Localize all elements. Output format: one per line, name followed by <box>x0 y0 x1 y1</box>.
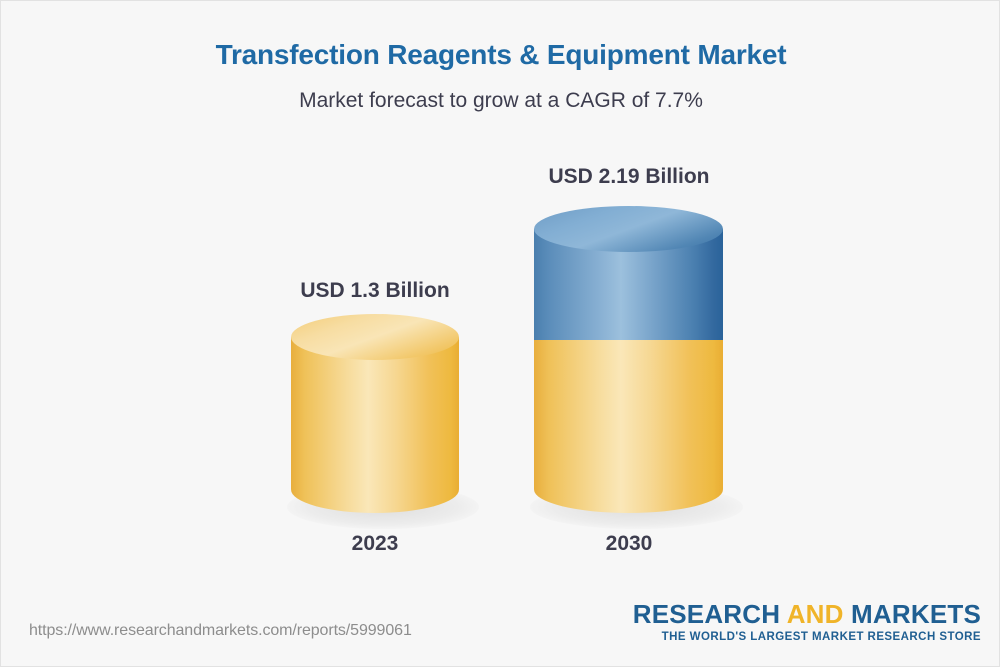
logo-wordmark: RESEARCH AND MARKETS <box>633 601 981 628</box>
value-label-2023: USD 1.3 Billion <box>225 279 525 303</box>
logo-word-research: RESEARCH <box>633 599 787 629</box>
bar-2023-bottom-edge <box>291 466 459 513</box>
logo-word-markets: MARKETS <box>851 599 981 629</box>
report-url[interactable]: https://www.researchandmarkets.com/repor… <box>29 622 412 640</box>
category-label-2030: 2030 <box>479 532 779 556</box>
bar-2030-bottom-edge <box>534 466 723 513</box>
logo-word-and: AND <box>787 599 851 629</box>
logo-tagline: THE WORLD'S LARGEST MARKET RESEARCH STOR… <box>633 631 981 643</box>
research-and-markets-logo[interactable]: RESEARCH AND MARKETS THE WORLD'S LARGEST… <box>633 601 981 643</box>
bar-2023-top-cap <box>291 314 459 360</box>
value-label-2030: USD 2.19 Billion <box>479 165 779 189</box>
bar-2030-top-cap <box>534 206 723 252</box>
chart-subtitle: Market forecast to grow at a CAGR of 7.7… <box>1 89 1000 113</box>
chart-canvas: Transfection Reagents & Equipment Market… <box>0 0 1000 667</box>
page-title: Transfection Reagents & Equipment Market <box>1 39 1000 71</box>
